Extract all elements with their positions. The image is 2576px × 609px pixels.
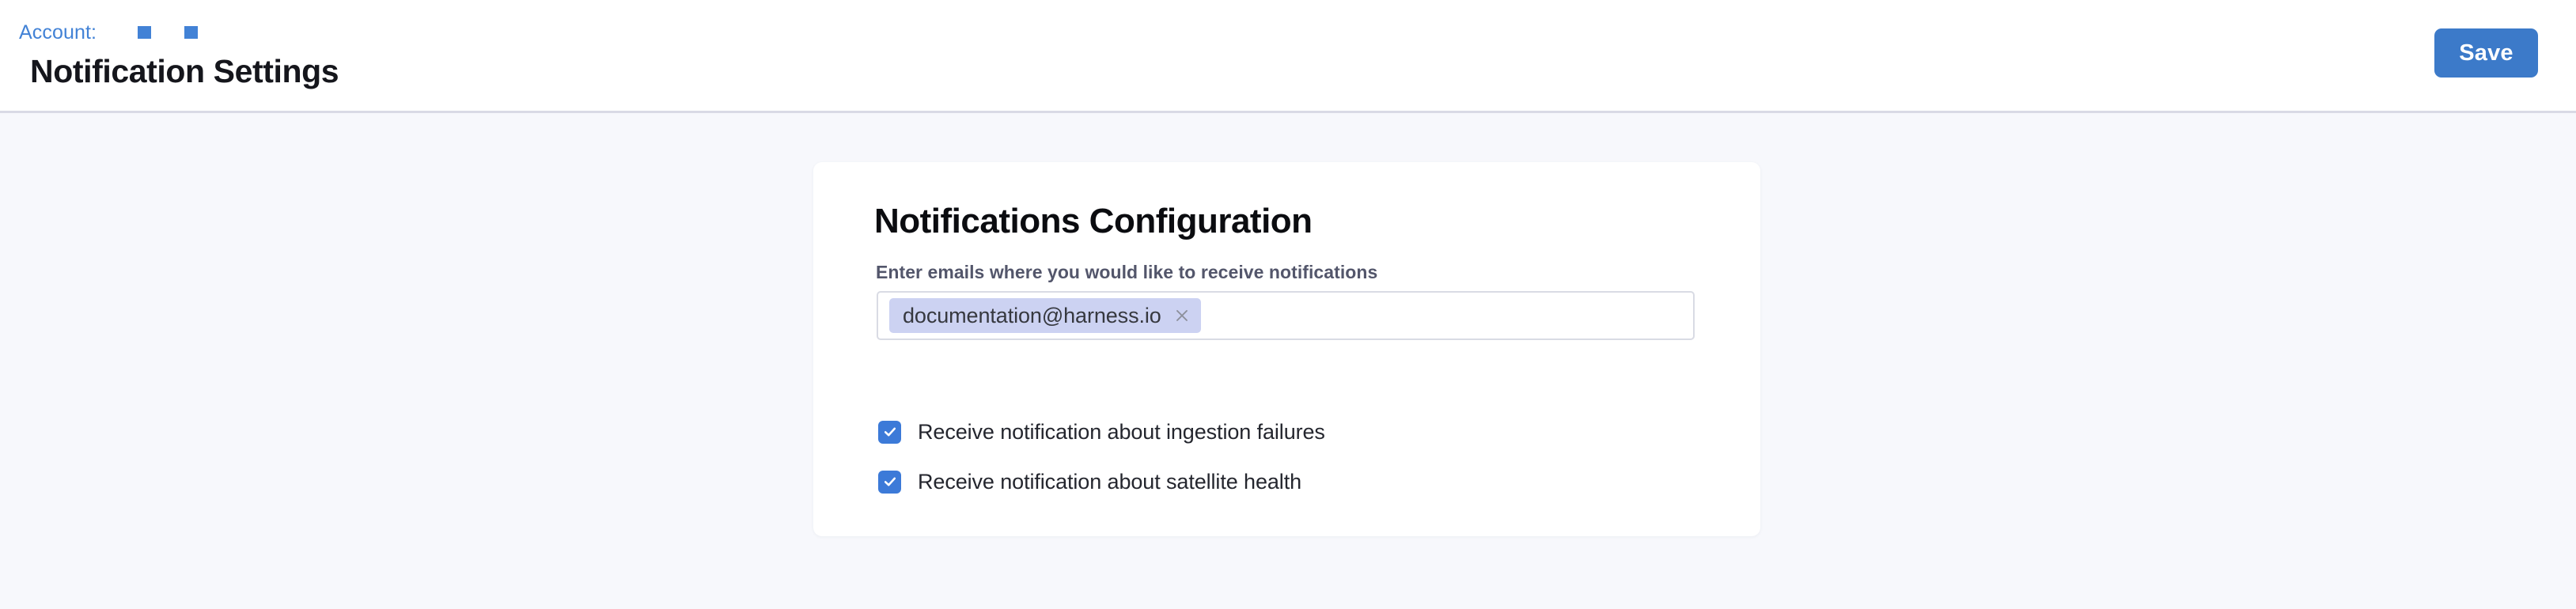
page-title: Notification Settings: [30, 49, 339, 93]
breadcrumb-account-label[interactable]: Account:: [19, 21, 97, 44]
main-content: Notifications Configuration Enter emails…: [0, 113, 2576, 609]
page-header: Account: Notification Settings Save: [0, 0, 2576, 113]
save-button[interactable]: Save: [2434, 28, 2538, 78]
checkbox-row-satellite-health[interactable]: Receive notification about satellite hea…: [878, 469, 1301, 494]
breadcrumb-redacted-block-2: [184, 26, 198, 39]
email-chip: documentation@harness.io: [889, 298, 1201, 333]
close-icon[interactable]: [1173, 307, 1191, 324]
checkbox-row-ingestion-failures[interactable]: Receive notification about ingestion fai…: [878, 419, 1325, 444]
notifications-configuration-card: Notifications Configuration Enter emails…: [813, 162, 1760, 536]
checkbox-label-ingestion-failures: Receive notification about ingestion fai…: [918, 419, 1325, 444]
checkbox-checked-icon[interactable]: [878, 421, 901, 444]
breadcrumb: Account:: [19, 21, 198, 44]
emails-field-label: Enter emails where you would like to rec…: [876, 261, 1377, 283]
breadcrumb-redacted-block-1: [138, 26, 151, 39]
checkbox-checked-icon[interactable]: [878, 471, 901, 494]
email-chip-label: documentation@harness.io: [903, 298, 1161, 333]
checkbox-label-satellite-health: Receive notification about satellite hea…: [918, 469, 1301, 494]
email-text-input[interactable]: [1201, 298, 1693, 333]
card-title: Notifications Configuration: [874, 201, 1313, 242]
email-recipients-input[interactable]: documentation@harness.io: [877, 291, 1695, 340]
